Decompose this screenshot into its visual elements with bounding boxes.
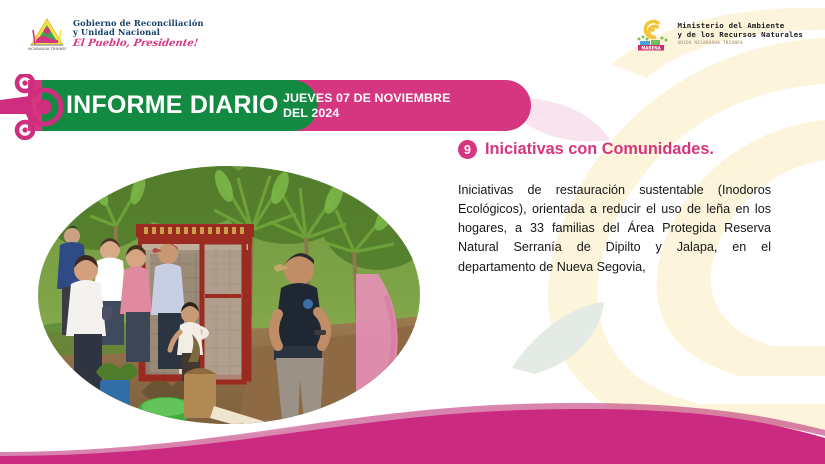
marena-sun-spiral-icon: MARENA [634, 14, 670, 54]
svg-text:NICARAGUA TRIUNFA: NICARAGUA TRIUNFA [28, 47, 66, 51]
ministry-logo-line3: UNIDA NICARAGUA TRIUNFA [677, 41, 803, 46]
gov-logo-slogan: El Pueblo, Presidente! [72, 38, 204, 49]
gov-logo-line2: y Unidad Nacional [73, 28, 204, 37]
pink-leaf-icon [518, 98, 610, 142]
ministry-logo-line2: y de los Recursos Naturales [677, 31, 803, 40]
community-ecological-toilet-photo [38, 166, 420, 424]
section-number-badge: 9 [458, 140, 477, 159]
section-headline: 9 Iniciativas con Comunidades. [458, 140, 778, 159]
green-leaf-icon [512, 302, 604, 374]
photo-container [38, 166, 420, 424]
content-column: 9 Iniciativas con Comunidades. Iniciativ… [458, 140, 778, 289]
nicaragua-flag-triangle-icon: NICARAGUA TRIUNFA [28, 16, 66, 52]
ministry-logo-text: Ministerio del Ambiente y de los Recurso… [677, 22, 803, 46]
banner-title: INFORME DIARIO [66, 80, 279, 131]
section-paragraph: Iniciativas de restauración sustentable … [458, 181, 771, 277]
slide-canvas: NICARAGUA TRIUNFA Gobierno de Reconcilia… [0, 0, 825, 464]
section-title: Iniciativas con Comunidades. [485, 140, 714, 159]
gov-logo: NICARAGUA TRIUNFA Gobierno de Reconcilia… [28, 16, 204, 52]
banner-date: JUEVES 07 DE NOVIEMBRE DEL 2024 [283, 80, 471, 131]
svg-text:MARENA: MARENA [642, 45, 662, 50]
ministry-logo: MARENA Ministerio del Ambiente y de los … [634, 14, 803, 54]
gov-logo-text: Gobierno de Reconciliación y Unidad Naci… [73, 19, 204, 50]
title-banner: INFORME DIARIO JUEVES 07 DE NOVIEMBRE DE… [0, 80, 531, 131]
pink-rings-cluster-icon [0, 74, 78, 140]
